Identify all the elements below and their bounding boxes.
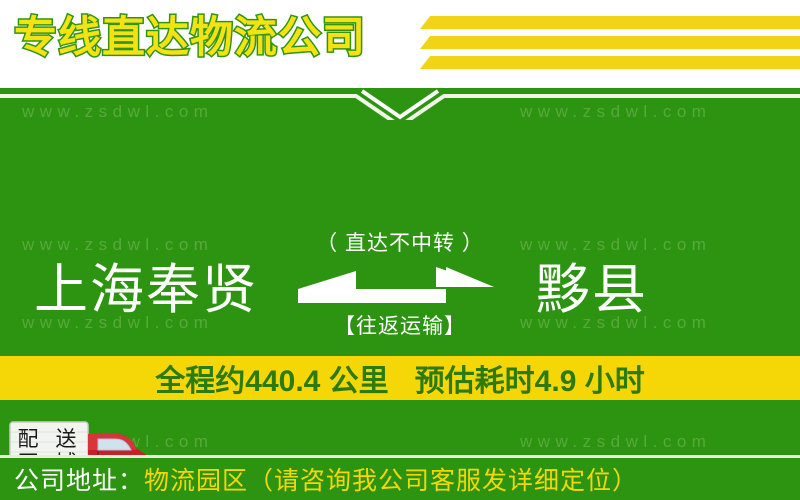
watermark: www.zsdwl.com (22, 235, 213, 255)
stripe-2 (420, 36, 800, 49)
truck-box-char-1: 配 (18, 428, 39, 451)
origin-city: 上海奉贤 (34, 260, 258, 320)
truck-box-char-2: 送 (56, 428, 77, 451)
bidirectional-arrow-icon (296, 265, 496, 311)
address-label: 公司地址： (14, 461, 144, 497)
decorative-stripes (420, 14, 800, 76)
logistics-banner: 专线直达物流公司 www.zsdwl.com www.zsdwl.com www… (0, 0, 800, 500)
watermark: www.zsdwl.com (520, 235, 711, 255)
route-note-top: （ 直达不中转 ） (305, 227, 495, 257)
address-value: 物流园区（请咨询我公司客服发详细定位） (144, 461, 638, 497)
watermark: www.zsdwl.com (520, 102, 711, 122)
stripe-1 (420, 16, 800, 29)
route-note-bottom: 【往返运输】 (305, 310, 495, 340)
distance-text: 全程约440.4 公里 (155, 356, 388, 400)
watermark: www.zsdwl.com (520, 432, 711, 452)
banner-header: 专线直达物流公司 (0, 0, 800, 88)
metrics-band: 全程约440.4 公里 预估耗时4.9 小时 (0, 356, 800, 400)
duration-text: 预估耗时4.9 小时 (415, 356, 645, 400)
company-slogan: 专线直达物流公司 (14, 8, 366, 68)
watermark: www.zsdwl.com (22, 102, 213, 122)
stripe-3 (420, 56, 800, 69)
address-bar: 公司地址： 物流园区（请咨询我公司客服发详细定位） (0, 458, 800, 500)
destination-city: 黟县 (536, 260, 648, 320)
banner-body: www.zsdwl.com www.zsdwl.com www.zsdwl.co… (0, 88, 800, 500)
